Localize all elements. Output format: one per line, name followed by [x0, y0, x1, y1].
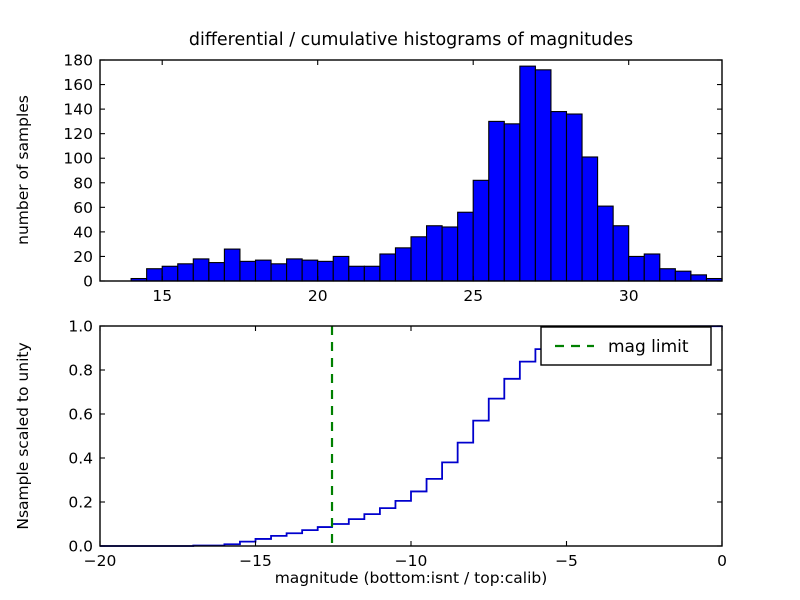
histogram-bar: [349, 266, 365, 281]
histogram-bar: [193, 259, 209, 281]
histogram-bar: [256, 260, 272, 281]
histogram-bar: [629, 256, 645, 281]
chart-title: differential / cumulative histograms of …: [189, 30, 633, 50]
histogram-bar: [380, 254, 396, 281]
top-y-tick-label: 100: [63, 150, 93, 168]
histogram-bar: [644, 254, 660, 281]
top-y-tick-label: 140: [63, 101, 93, 119]
histogram-bar: [598, 206, 614, 281]
histogram-bar: [209, 263, 225, 281]
histogram-bar: [675, 271, 691, 281]
histogram-bar: [504, 124, 520, 281]
histogram-bar: [395, 248, 411, 281]
top-x-tick-label: 20: [308, 287, 328, 305]
histogram-bar: [613, 226, 629, 281]
bottom-y-tick-label: 0.8: [68, 362, 93, 380]
bottom-y-tick-label: 0.2: [68, 494, 93, 512]
bottom-y-tick-label: 0.6: [68, 406, 93, 424]
figure-background: [0, 0, 800, 600]
top-y-tick-label: 60: [73, 199, 93, 217]
histogram-bar: [162, 266, 178, 281]
histogram-bar: [364, 266, 380, 281]
histogram-bar: [318, 261, 334, 281]
bottom-y-tick-label: 0.4: [68, 450, 93, 468]
top-x-tick-label: 25: [463, 287, 483, 305]
top-x-tick-label: 15: [152, 287, 172, 305]
top-y-axis-label: number of samples: [14, 95, 32, 245]
legend[interactable]: mag limit: [541, 327, 711, 365]
histogram-bar: [224, 249, 240, 281]
histogram-bar: [520, 66, 536, 281]
top-y-tick-label: 0: [83, 273, 93, 291]
histogram-bar: [147, 269, 163, 281]
bottom-x-tick-label: −10: [395, 552, 428, 570]
histogram-bar: [427, 226, 443, 281]
histogram-bar: [582, 157, 598, 281]
histogram-bar: [333, 256, 349, 281]
figure-canvas: differential / cumulative histograms of …: [0, 0, 800, 600]
top-x-tick-label: 30: [619, 287, 639, 305]
histogram-bar: [178, 264, 194, 281]
histogram-bar: [473, 180, 489, 281]
bottom-y-axis-label: Nsample scaled to unity: [14, 342, 32, 529]
histogram-bar: [535, 70, 551, 281]
top-y-tick-label: 120: [63, 125, 93, 143]
histogram-bar: [691, 275, 707, 281]
histogram-bar: [302, 260, 318, 281]
histogram-bar: [287, 259, 303, 281]
bottom-y-tick-label: 1.0: [68, 318, 93, 336]
histogram-bar: [489, 121, 505, 281]
top-y-tick-label: 180: [63, 52, 93, 70]
bottom-x-tick-label: −5: [555, 552, 578, 570]
matplotlib-figure: differential / cumulative histograms of …: [0, 0, 800, 600]
histogram-bar: [240, 261, 256, 281]
bottom-x-tick-label: 0: [717, 552, 727, 570]
histogram-bar: [458, 212, 474, 281]
histogram-bar: [660, 269, 676, 281]
histogram-bar: [271, 264, 287, 281]
legend-mag-limit-label: mag limit: [608, 337, 689, 357]
top-y-tick-label: 40: [73, 223, 93, 241]
histogram-bar: [567, 114, 583, 281]
bottom-x-axis-label: magnitude (bottom:isnt / top:calib): [275, 569, 548, 587]
bottom-x-tick-label: −15: [239, 552, 272, 570]
top-y-tick-label: 20: [73, 248, 93, 266]
top-y-tick-label: 160: [63, 76, 93, 94]
histogram-bar: [411, 237, 427, 281]
top-y-tick-label: 80: [73, 174, 93, 192]
histogram-bar: [551, 112, 567, 281]
bottom-x-tick-label: −20: [84, 552, 117, 570]
histogram-bar: [442, 227, 458, 281]
